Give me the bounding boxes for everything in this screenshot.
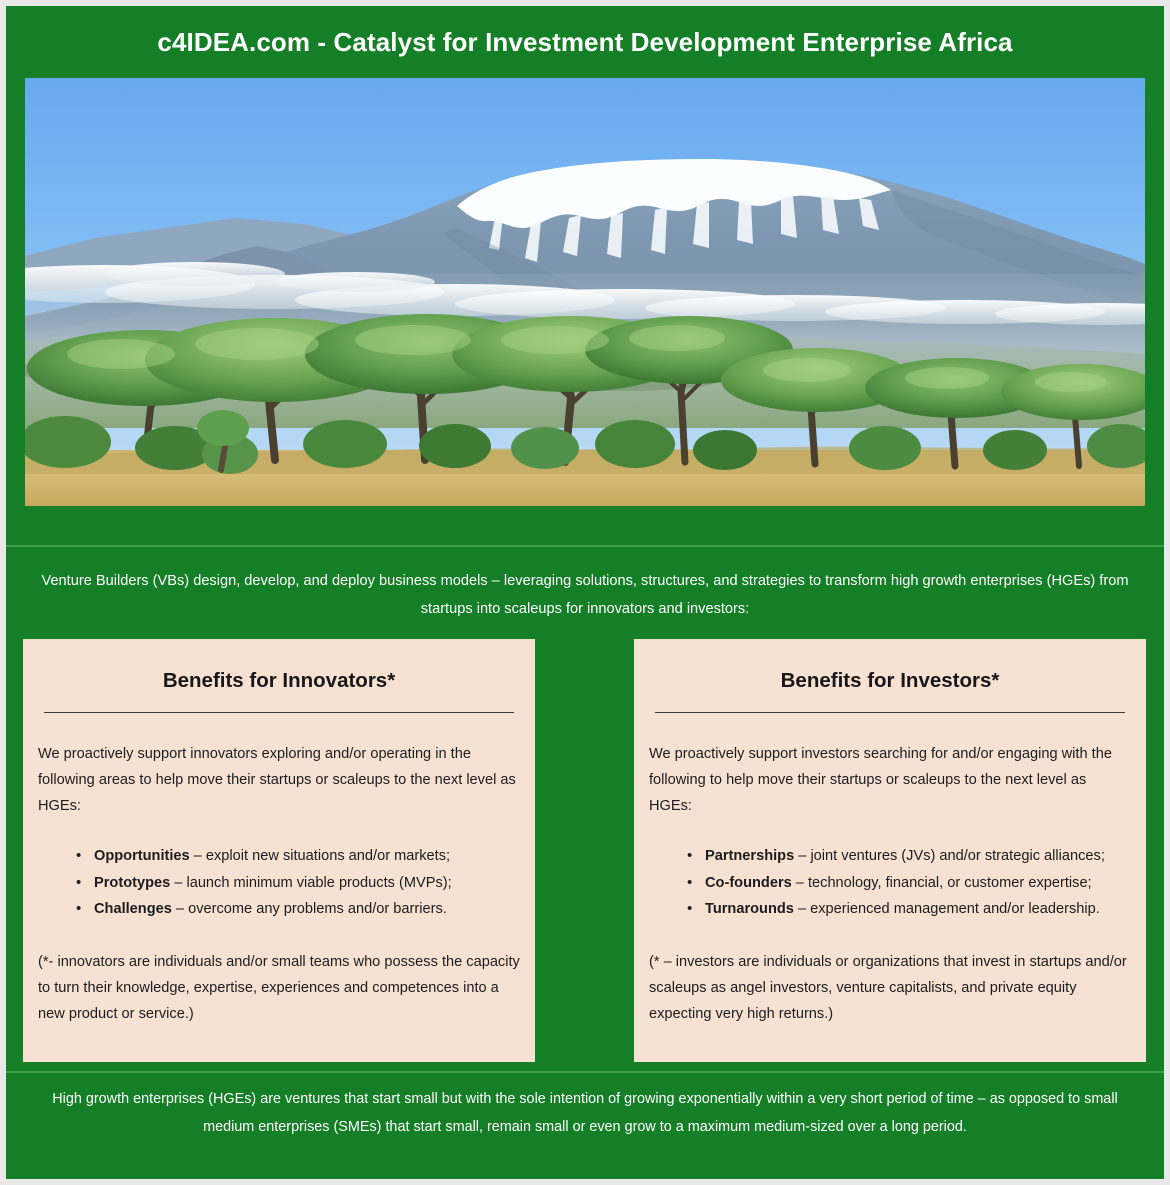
list-item: Opportunities – exploit new situations a… xyxy=(76,843,522,870)
bullet-rest: – technology, financial, or customer exp… xyxy=(792,875,1092,891)
card-innovators-rule xyxy=(44,712,514,713)
card-investors-note: (* – investors are individuals or organi… xyxy=(647,949,1133,1027)
page-root: c4IDEA.com - Catalyst for Investment Dev… xyxy=(0,0,1170,1185)
list-item: Co-founders – technology, financial, or … xyxy=(687,870,1133,897)
hero-image-container: Mount Kilimanjaro snow-capped peak above… xyxy=(6,78,1164,506)
bullet-term: Opportunities xyxy=(94,848,190,864)
kilimanjaro-landscape-photo: Mount Kilimanjaro snow-capped peak above… xyxy=(25,78,1145,506)
list-item: Challenges – overcome any problems and/o… xyxy=(76,896,522,923)
list-item: Partnerships – joint ventures (JVs) and/… xyxy=(687,843,1133,870)
bullet-term: Prototypes xyxy=(94,875,170,891)
bullet-rest: – joint ventures (JVs) and/or strategic … xyxy=(794,848,1105,864)
bullet-term: Turnarounds xyxy=(705,901,794,917)
card-innovators: Benefits for Innovators* We proactively … xyxy=(23,639,535,1062)
bullet-rest: – launch minimum viable products (MVPs); xyxy=(170,875,451,891)
card-investors-list: Partnerships – joint ventures (JVs) and/… xyxy=(647,843,1133,923)
card-innovators-list: Opportunities – exploit new situations a… xyxy=(36,843,522,923)
header-band: c4IDEA.com - Catalyst for Investment Dev… xyxy=(6,6,1164,78)
card-innovators-title: Benefits for Innovators* xyxy=(36,667,522,695)
bullet-term: Challenges xyxy=(94,901,172,917)
benefits-cards-row: Benefits for Innovators* We proactively … xyxy=(6,639,1164,1062)
card-investors-rule xyxy=(655,712,1125,713)
page-title: c4IDEA.com - Catalyst for Investment Dev… xyxy=(157,27,1012,58)
bullet-rest: – overcome any problems and/or barriers. xyxy=(172,901,447,917)
hero-divider xyxy=(6,506,1164,547)
bullet-rest: – experienced management and/or leadersh… xyxy=(794,901,1100,917)
card-innovators-intro: We proactively support innovators explor… xyxy=(36,741,522,819)
bullet-term: Co-founders xyxy=(705,875,792,891)
card-innovators-note: (*- innovators are individuals and/or sm… xyxy=(36,949,522,1027)
footer-note: High growth enterprises (HGEs) are ventu… xyxy=(6,1071,1164,1179)
intro-paragraph: Venture Builders (VBs) design, develop, … xyxy=(6,547,1164,639)
list-item: Turnarounds – experienced management and… xyxy=(687,896,1133,923)
green-sheet: c4IDEA.com - Catalyst for Investment Dev… xyxy=(6,6,1164,1179)
bullet-term: Partnerships xyxy=(705,848,794,864)
bullet-rest: – exploit new situations and/or markets; xyxy=(190,848,450,864)
list-item: Prototypes – launch minimum viable produ… xyxy=(76,870,522,897)
card-investors-intro: We proactively support investors searchi… xyxy=(647,741,1133,819)
card-investors-title: Benefits for Investors* xyxy=(647,667,1133,695)
card-investors: Benefits for Investors* We proactively s… xyxy=(634,639,1146,1062)
